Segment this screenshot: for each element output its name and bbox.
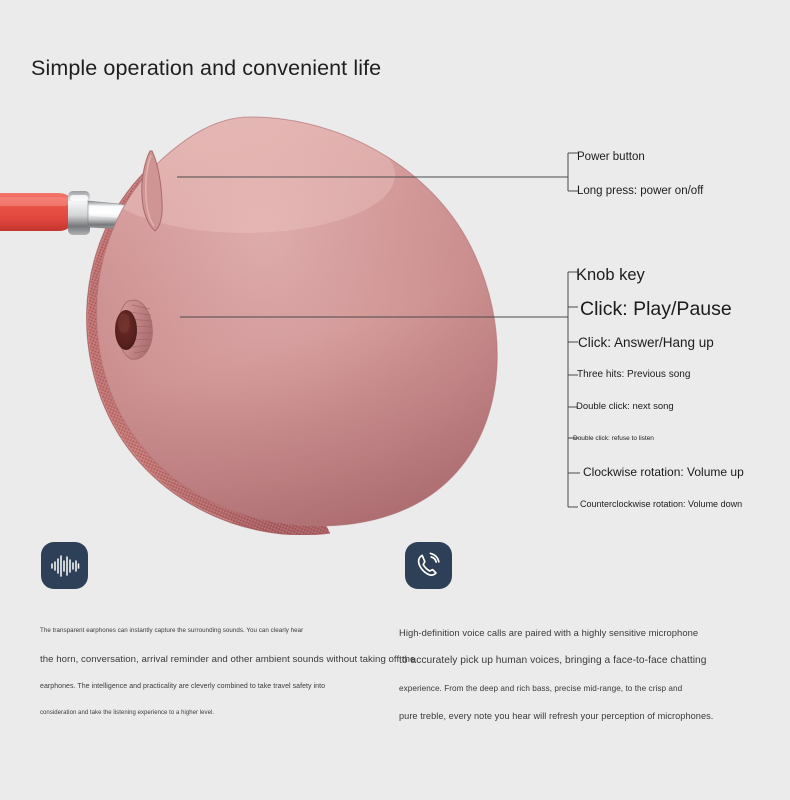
phone-call-icon-badge — [405, 542, 452, 589]
paragraph-line: the horn, conversation, arrival reminder… — [40, 655, 370, 665]
callout-label-three-hits: Three hits: Previous song — [577, 370, 690, 380]
page-root: Simple operation and convenient life — [0, 0, 790, 800]
callout-label-double-click-refuse: Double click: refuse to listen — [573, 436, 654, 443]
callout-label-double-click-next: Double click: next song — [576, 402, 674, 412]
callout-label-ccw-volume-down: Counterclockwise rotation: Volume down — [580, 500, 742, 509]
transparency-feature-paragraph: The transparent earphones can instantly … — [40, 628, 370, 716]
callout-label-long-press: Long press: power on/off — [577, 186, 703, 198]
callout-label-click-answer-hangup: Click: Answer/Hang up — [578, 336, 714, 350]
paragraph-line: pure treble, every note you hear will re… — [399, 712, 739, 721]
callout-label-click-play-pause: Click: Play/Pause — [580, 300, 732, 320]
paragraph-line: experience. From the deep and rich bass,… — [399, 685, 739, 693]
sound-wave-icon — [50, 555, 80, 577]
sound-wave-icon-badge — [41, 542, 88, 589]
callout-label-clockwise-volume-up: Clockwise rotation: Volume up — [583, 466, 744, 478]
paragraph-line: High-definition voice calls are paired w… — [399, 628, 739, 637]
paragraph-line: consideration and take the listening exp… — [40, 710, 370, 716]
paragraph-line: earphones. The intelligence and practica… — [40, 683, 370, 690]
phone-call-icon — [415, 552, 442, 579]
paragraph-line: to accurately pick up human voices, brin… — [399, 656, 739, 666]
paragraph-line: The transparent earphones can instantly … — [40, 628, 370, 634]
voice-call-feature-paragraph: High-definition voice calls are paired w… — [399, 628, 739, 722]
callout-label-knob-key: Knob key — [576, 267, 645, 284]
callout-label-power-button: Power button — [577, 152, 645, 164]
